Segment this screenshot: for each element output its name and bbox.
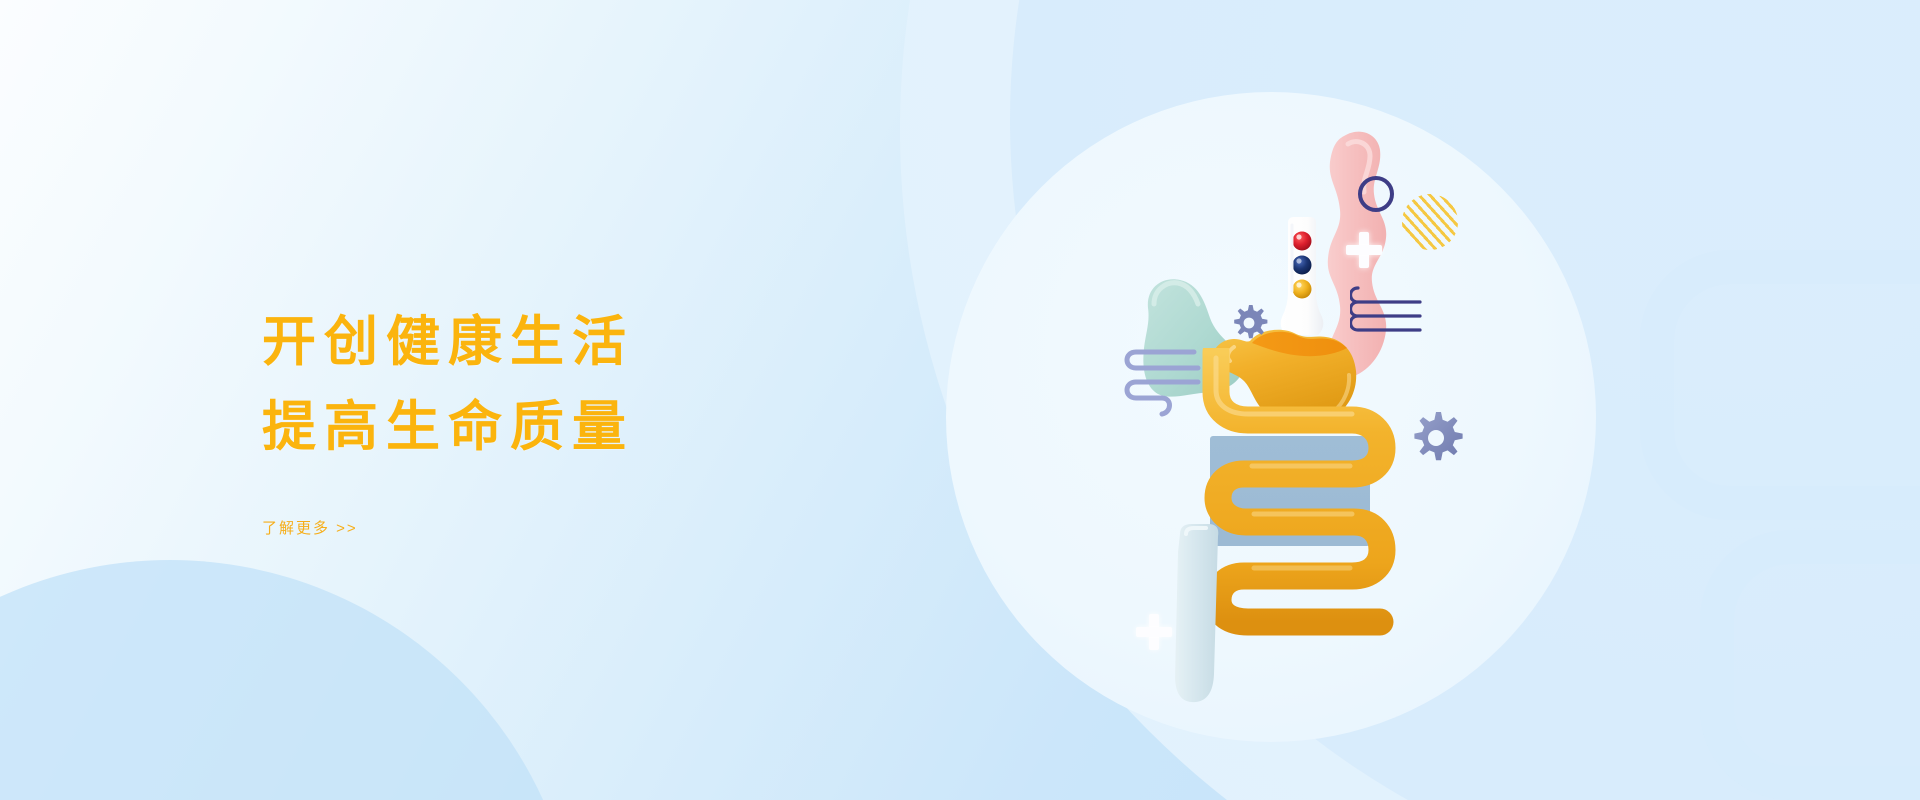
cross-bottom-icon — [1136, 614, 1172, 650]
intestine-organ — [1202, 348, 1402, 638]
digestive-system-illustration — [946, 92, 1596, 742]
background-rounded-bar-lower — [1700, 530, 1920, 800]
headline-line-2: 提高生命质量 — [262, 385, 882, 470]
cross-top-icon — [1346, 232, 1382, 268]
background-rounded-bar-upper — [1640, 250, 1920, 520]
squiggle-right-icon — [1350, 278, 1424, 340]
squiggle-left-icon — [1122, 344, 1202, 422]
learn-more-link[interactable]: 了解更多 >> — [262, 517, 358, 538]
vial-shape — [1168, 524, 1224, 704]
headline-line-1: 开创健康生活 — [262, 300, 882, 385]
hero-banner: 开创健康生活 提高生命质量 了解更多 >> — [0, 0, 1920, 800]
gear-large-icon — [1408, 410, 1464, 466]
ring-outline-icon — [1358, 176, 1394, 212]
gear-small-icon — [1230, 304, 1268, 342]
background-semicircle-bottom-left — [0, 560, 580, 800]
hero-copy: 开创健康生活 提高生命质量 了解更多 >> — [262, 300, 882, 538]
striped-circle-icon — [1402, 194, 1458, 250]
